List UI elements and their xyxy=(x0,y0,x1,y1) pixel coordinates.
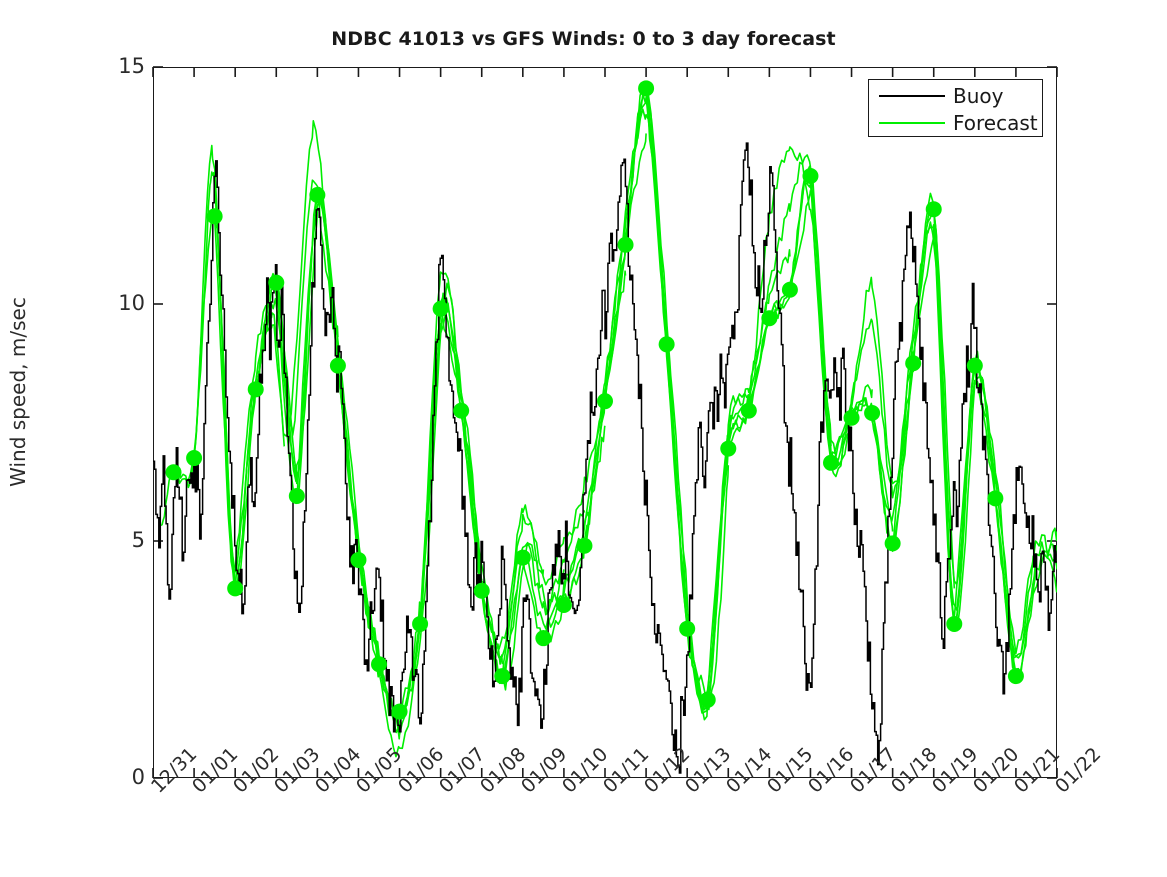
y-tick-label: 15 xyxy=(105,54,145,78)
legend-item-forecast[interactable]: Forecast xyxy=(869,110,1044,136)
figure: NDBC 41013 vs GFS Winds: 0 to 3 day fore… xyxy=(0,0,1167,875)
y-tick-label: 0 xyxy=(105,765,145,789)
y-tick-label: 5 xyxy=(105,528,145,552)
legend: BuoyForecast xyxy=(868,79,1043,137)
legend-swatch-forecast xyxy=(879,122,945,124)
legend-item-buoy[interactable]: Buoy xyxy=(869,83,1044,109)
x-tick-label: 01/22 xyxy=(1051,743,1105,797)
legend-swatch-buoy xyxy=(879,95,945,97)
y-axis-title: Wind speed, m/sec xyxy=(6,112,30,672)
x-axis-tick-labels: 12/3101/0101/0201/0301/0401/0501/0601/07… xyxy=(153,782,1057,877)
y-tick-label: 10 xyxy=(105,291,145,315)
legend-label: Forecast xyxy=(953,110,1038,136)
plot-area xyxy=(153,67,1057,778)
y-axis-tick-labels: 051015 xyxy=(100,67,145,778)
chart-title: NDBC 41013 vs GFS Winds: 0 to 3 day fore… xyxy=(0,28,1167,50)
legend-label: Buoy xyxy=(953,83,1003,109)
